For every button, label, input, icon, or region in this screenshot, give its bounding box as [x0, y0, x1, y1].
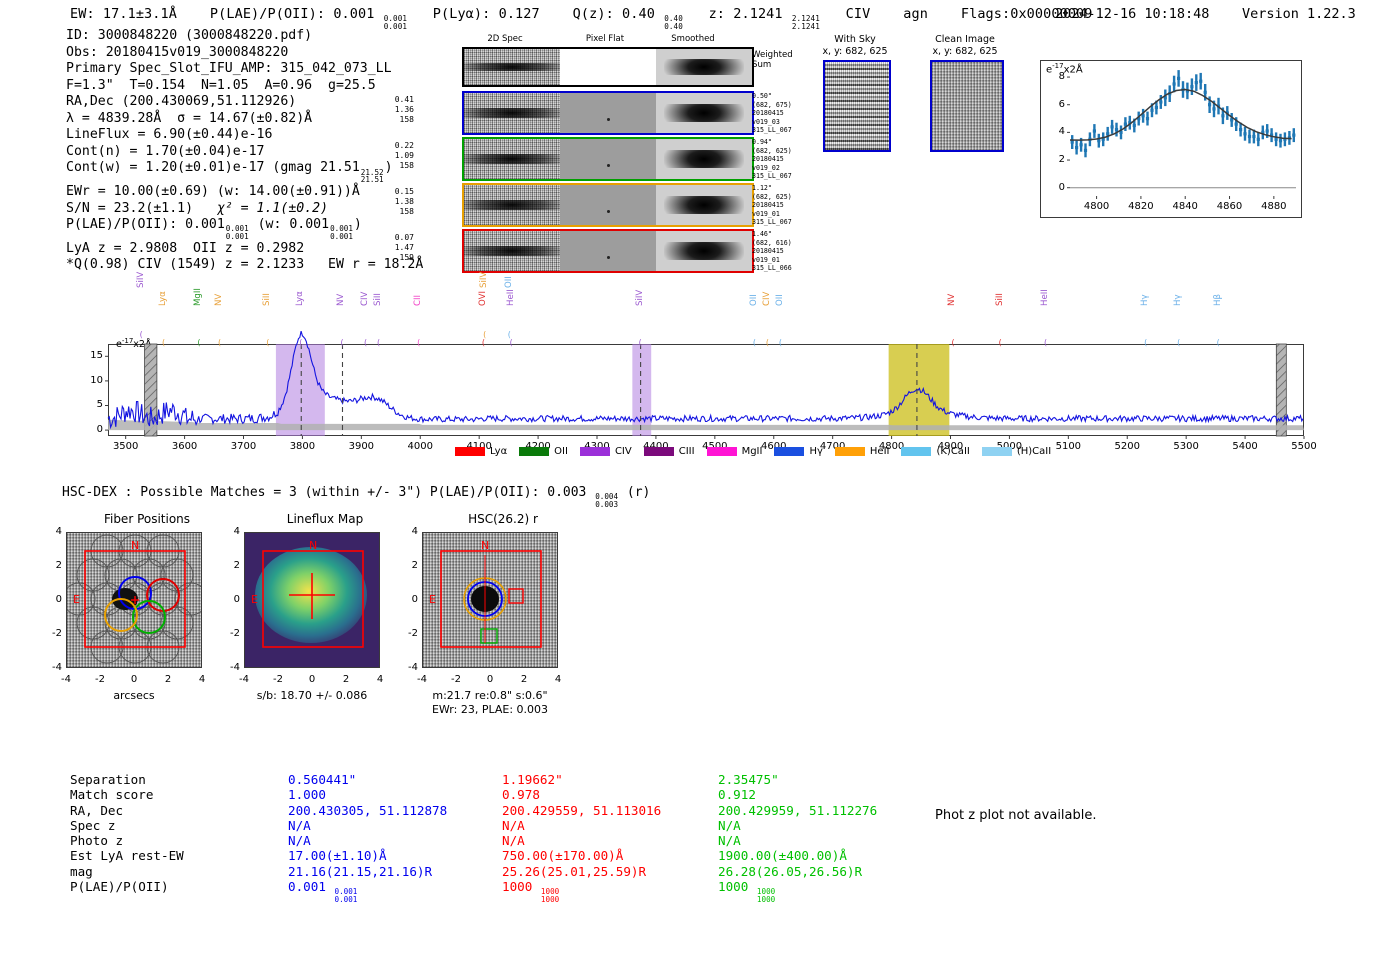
emission-line-label: NV [214, 294, 224, 306]
fiber-meta: 20180415 [752, 155, 812, 164]
matches-cell: 21.16(21.15,21.16)R [288, 864, 447, 879]
emission-line-label: SiIV [479, 272, 489, 288]
info-snr: S/N = 23.2(±1.1) χ² = 1.1(±0.2) [66, 201, 423, 218]
matches-cell: 0.560441" [288, 772, 447, 787]
spectrum-ytick: 15 [76, 350, 103, 361]
clean-image [930, 60, 1004, 152]
emission-line-label: SiII [262, 293, 272, 306]
fiber-meta: v019_02 [752, 164, 812, 173]
line-bracket: ( [417, 338, 420, 347]
emission-line-label: OVI [478, 291, 488, 306]
fiber-meta: 1.12" [752, 184, 812, 193]
matches-cell: 1000 10001000 [502, 879, 661, 904]
fiber-value: 159 [380, 253, 414, 263]
matches-column: 2.35475"0.912200.429959, 51.112276N/AN/A… [718, 772, 877, 904]
lineflux-caption: s/b: 18.70 +/- 0.086 [234, 689, 390, 702]
info-primary-spec: Primary Spec_Slot_IFU_AMP: 315_042_073_L… [66, 61, 423, 78]
matches-row-label: mag [70, 864, 184, 879]
emission-line-label: OII [775, 294, 785, 306]
legend-label: CIII [679, 446, 695, 457]
fiber-meta: (682, 625) [752, 193, 812, 202]
legend-swatch [455, 447, 485, 456]
info-cont-n: Cont(n) = 1.70(±0.04)e-17 [66, 144, 423, 161]
matches-cell: N/A [288, 818, 447, 833]
fiber-smoothed [656, 139, 752, 179]
col-title-smoothed: Smoothed [648, 34, 738, 44]
matches-cell: N/A [718, 818, 877, 833]
hscdex-title-text: HSC-DEX : Possible Matches = 3 (within +… [62, 485, 586, 500]
panel-ytick: 4 [42, 526, 62, 537]
panel-ytick: 0 [42, 594, 62, 605]
emission-line-label: Lyα [295, 291, 305, 306]
panel-ytick: 2 [42, 560, 62, 571]
compass-e-fiber: E [73, 593, 80, 606]
fiber-pixelflat [560, 231, 656, 271]
matches-cell: 1000 10001000 [718, 879, 877, 904]
matches-cell: 200.430305, 51.112878 [288, 803, 447, 818]
source-info-block: ID: 3000848220 (3000848220.pdf) Obs: 201… [66, 28, 423, 274]
panel-xtick: 0 [119, 674, 149, 685]
compass-n-hsc: N [481, 539, 489, 552]
hsc-caption-2: EWr: 23, PLAE: 0.003 [412, 703, 568, 716]
legend-label: Hγ [809, 446, 822, 457]
matches-row-label: Est LyA rest-EW [70, 848, 184, 863]
legend-swatch [580, 447, 610, 456]
cutout-title-with-sky: With Sky x, y: 682, 625 [800, 34, 910, 58]
fiber-meta: 315_LL_067 [752, 126, 812, 135]
line-bracket: ( [1144, 338, 1147, 347]
panel-xtick: 0 [297, 674, 327, 685]
line-bracket: ( [197, 338, 200, 347]
info-plae-w-bounds: 0.0010.001 [330, 225, 353, 240]
header-plya: P(Lyα): 0.127 [433, 6, 540, 22]
weighted-sum-smoothed [656, 49, 752, 85]
matches-table: SeparationMatch scoreRA, DecSpec zPhoto … [70, 772, 184, 894]
matches-cell: 0.912 [718, 787, 877, 802]
hsc-r-axes: N E [422, 532, 558, 668]
photz-note: Phot z plot not available. [935, 808, 1097, 823]
fiber-left-values: 0.151.38158 [380, 187, 414, 217]
panel-ytick: 4 [398, 526, 418, 537]
compass-e-hsc: E [429, 593, 436, 606]
fiber-pixelflat [560, 93, 656, 133]
matches-cell: 25.26(25.01,25.59)R [502, 864, 661, 879]
matches-cell: 1.19662" [502, 772, 661, 787]
legend-swatch [644, 447, 674, 456]
full-spectrum-svg [108, 344, 1304, 436]
fiber-meta: v019_01 [752, 210, 812, 219]
emission-line-label: NV [336, 294, 346, 306]
matches-cell: 200.429559, 51.113016 [502, 803, 661, 818]
panel-xtick: -4 [229, 674, 259, 685]
emission-line-label: Hγ [1173, 294, 1183, 306]
legend-item: Lyα [455, 446, 507, 457]
fiber-meta: (682, 625) [752, 147, 812, 156]
fit-xtick: 4860 [1208, 201, 1252, 212]
matches-cell: 1.000 [288, 787, 447, 802]
panel-ytick: 0 [398, 594, 418, 605]
fit-xtick: 4840 [1163, 201, 1207, 212]
line-bracket: ( [1217, 338, 1220, 347]
header-class: CIV [846, 6, 871, 22]
emission-line-label: CIV [762, 292, 772, 306]
fiber-smoothed [656, 93, 752, 133]
hscdex-title: HSC-DEX : Possible Matches = 3 (within +… [62, 485, 650, 509]
info-id: ID: 3000848220 (3000848220.pdf) [66, 28, 423, 45]
matches-cell: 200.429959, 51.112276 [718, 803, 877, 818]
header-type: agn [903, 6, 928, 22]
legend-item: OII [519, 446, 568, 457]
emission-line-label: Hβ [1213, 294, 1223, 306]
matches-column: 1.19662"0.978200.429559, 51.113016N/AN/A… [502, 772, 661, 904]
chi-squared: χ² = 1.1(±0.2) [217, 201, 328, 216]
fiber-meta: v019_03 [752, 118, 812, 127]
header-timestamp-block: 2024-12-16 10:18:48 Version 1.22.3 [1055, 6, 1356, 22]
matches-cell: 750.00(±170.00)Å [502, 848, 661, 863]
line-bracket: ( [779, 338, 782, 347]
panel-ytick: 2 [220, 560, 240, 571]
matches-cell: N/A [718, 833, 877, 848]
highlight-band [276, 344, 325, 436]
fiber-value: 0.07 [380, 233, 414, 243]
matches-row-label: Separation [70, 772, 184, 787]
legend-swatch [774, 447, 804, 456]
panel-xtick: 0 [475, 674, 505, 685]
fiber-meta: 0.94" [752, 138, 812, 147]
header-plae-label: P(LAE)/P(OII): 0.001 [210, 6, 375, 22]
col-title-pixelflat: Pixel Flat [560, 34, 650, 44]
spectrum-xtick: 5300 [1161, 441, 1211, 452]
fiber-meta: 20180415 [752, 201, 812, 210]
spectrum-ytick: 10 [76, 375, 103, 386]
fit-xtick: 4800 [1075, 201, 1119, 212]
hscdex-title-filter: (r) [627, 485, 650, 500]
matches-row-labels: SeparationMatch scoreRA, DecSpec zPhoto … [70, 772, 184, 894]
emission-line-label: OII [504, 276, 514, 288]
header-z-bounds: 2.1241 2.1241 [792, 15, 820, 30]
z-lower: 2.1241 [792, 23, 820, 31]
spectrum-xtick: 3800 [277, 441, 327, 452]
line-bracket: ( [482, 338, 485, 347]
fiber-value: 158 [380, 207, 414, 217]
fiber-value: 158 [380, 161, 414, 171]
compass-n-fiber: N [131, 539, 139, 552]
fiber-meta: 20180415 [752, 247, 812, 256]
panel-xtick: -4 [407, 674, 437, 685]
fiber-right-meta: 1.12"(682, 625)20180415v019_01315_LL_067 [752, 184, 812, 227]
fit-ytick: 8 [1040, 71, 1065, 82]
clean-image-title: Clean Image [905, 34, 1025, 46]
highlight-band [632, 344, 651, 436]
emission-line-label: NV [947, 294, 957, 306]
fiber-value: 1.38 [380, 197, 414, 207]
fiber-value: 0.15 [380, 187, 414, 197]
fiber-smoothed [656, 231, 752, 271]
col-title-2dspec: 2D Spec [460, 34, 550, 44]
legend-swatch [707, 447, 737, 456]
fiber-left-values: 0.221.09158 [380, 141, 414, 171]
line-bracket: ( [483, 330, 486, 339]
matches-row-label: Photo z [70, 833, 184, 848]
spectrum-xtick: 3900 [336, 441, 386, 452]
fiber-xlabel: arcsecs [66, 689, 202, 702]
fiber-meta: 20180415 [752, 109, 812, 118]
fiber-smoothed [656, 185, 752, 225]
panel-xtick: -4 [51, 674, 81, 685]
panel-title-lineflux-map: Lineflux Map [240, 512, 410, 526]
info-cont-w: Cont(w) = 1.20(±0.01)e-17 (gmag 21.5121.… [66, 160, 423, 184]
info-obs: Obs: 20180415v019_3000848220 [66, 45, 423, 62]
info-ewr: EWr = 10.00(±0.69) (w: 14.00(±0.91))Å [66, 184, 423, 201]
weighted-sum-label: Weighted Sum [752, 50, 793, 70]
fiber-value: 0.22 [380, 141, 414, 151]
line-bracket: ( [753, 338, 756, 347]
info-radec: RA,Dec (200.430069,51.112926) [66, 94, 423, 111]
fiber-overlay [67, 533, 202, 668]
legend-swatch [901, 447, 931, 456]
hscdex-plae-bounds: 0.004 0.003 [595, 493, 618, 508]
spectrum-xtick: 5400 [1220, 441, 1270, 452]
emission-line-label: OII [749, 294, 759, 306]
with-sky-title: With Sky [800, 34, 910, 46]
legend-label: Lyα [490, 446, 507, 457]
info-plae-bounds: 0.0010.001 [226, 225, 249, 240]
masked-band [1276, 344, 1286, 436]
line-bracket: ( [266, 338, 269, 347]
fiber-right-meta: 1.46"(682, 616)20180415v019_01315_LL_066 [752, 230, 812, 273]
weighted-sum-row [462, 47, 754, 87]
line-bracket: ( [639, 338, 642, 347]
emission-line-label: CII [413, 295, 423, 306]
line-bracket: ( [951, 338, 954, 347]
with-sky-image [823, 60, 891, 152]
fiber-2dspec [464, 231, 560, 271]
panel-ytick: -2 [220, 628, 240, 639]
weighted-sum-2dspec [464, 49, 560, 85]
weighted-sum-pixelflat [560, 49, 656, 85]
fiber-value: 1.09 [380, 151, 414, 161]
line-bracket: ( [218, 338, 221, 347]
fiber-meta: 0.50" [752, 92, 812, 101]
fiber-2dspec [464, 139, 560, 179]
legend-item: CIV [580, 446, 632, 457]
panel-ytick: -4 [42, 662, 62, 673]
panel-ytick: -4 [398, 662, 418, 673]
info-wavelength: λ = 4839.28Å σ = 14.67(±0.82)Å [66, 111, 423, 128]
fit-ytick: 4 [1040, 126, 1065, 137]
panel-ytick: -2 [398, 628, 418, 639]
fiber-row [462, 229, 754, 273]
spectrum-xtick: 5200 [1102, 441, 1152, 452]
fit-xtick: 4880 [1252, 201, 1296, 212]
line-bracket: ( [140, 330, 143, 339]
emission-line-label: Hγ [1140, 294, 1150, 306]
qz-lower: 0.40 [664, 23, 683, 31]
info-seeing: F=1.3" T=0.154 N=1.05 A=0.96 g=25.5 [66, 78, 423, 95]
matches-row-label: Match score [70, 787, 184, 802]
fiber-pixelflat [560, 139, 656, 179]
header-summary-line: EW: 17.1±3.1Å P(LAE)/P(OII): 0.001 0.001… [70, 6, 1093, 31]
fit-ytick: 0 [1040, 182, 1065, 193]
info-redshifts: LyA z = 2.9808 OII z = 0.2982 [66, 241, 423, 258]
fiber-positions-axes: N E [66, 532, 202, 668]
panel-ytick: -4 [220, 662, 240, 673]
panel-title-hsc-r: HSC(26.2) r [418, 512, 588, 526]
fiber-right-meta: 0.50"(682, 675)20180415v019_03315_LL_067 [752, 92, 812, 135]
emission-line-label: MgII [193, 288, 203, 306]
hsc-caption-1: m:21.7 re:0.8" s:0.6" [412, 689, 568, 702]
fiber-meta: 315_LL_067 [752, 218, 812, 227]
panel-ytick: 0 [220, 594, 240, 605]
fiber-pixelflat [560, 185, 656, 225]
legend-item: (H)CaII [982, 446, 1051, 457]
fiber-meta: (682, 616) [752, 239, 812, 248]
fiber-value: 0.41 [380, 95, 414, 105]
matches-cell: N/A [288, 833, 447, 848]
matches-plae-bounds: 10001000 [541, 888, 559, 903]
matches-cell: 0.978 [502, 787, 661, 802]
legend-item: (K)CaII [901, 446, 969, 457]
fit-ytick: 2 [1040, 154, 1065, 165]
highlight-band [889, 344, 950, 436]
line-bracket: ( [1177, 338, 1180, 347]
line-bracket: ( [364, 338, 367, 347]
header-z: z: 2.1241 [709, 6, 783, 22]
fiber-2dspec [464, 93, 560, 133]
fiber-left-values: 0.071.47159 [380, 233, 414, 263]
header-version: Version 1.22.3 [1242, 6, 1356, 22]
fiber-meta: 1.46" [752, 230, 812, 239]
emission-line-label: SiII [373, 293, 383, 306]
spectrum-xtick: 3500 [101, 441, 151, 452]
fiber-meta: 315_LL_066 [752, 264, 812, 273]
line-bracket: ( [340, 338, 343, 347]
legend-label: (K)CaII [936, 446, 969, 457]
header-ew: EW: 17.1±3.1Å [70, 6, 177, 22]
line-bracket: ( [377, 338, 380, 347]
fiber-row [462, 183, 754, 227]
panel-xtick: 4 [187, 674, 217, 685]
cutout-title-clean: Clean Image x, y: 682, 625 [905, 34, 1025, 58]
panel-xtick: 4 [543, 674, 573, 685]
header-qz: Q(z): 0.40 [573, 6, 655, 22]
matches-cell: N/A [502, 818, 661, 833]
matches-row-label: RA, Dec [70, 803, 184, 818]
spectrum-ytick: 0 [76, 424, 103, 435]
spectrum-ytick: 5 [76, 399, 103, 410]
panel-ytick: -2 [42, 628, 62, 639]
panel-xtick: 4 [365, 674, 395, 685]
emission-line-label: HeII [506, 289, 516, 306]
fiber-value: 1.47 [380, 243, 414, 253]
matches-row-label: P(LAE)/P(OII) [70, 879, 184, 894]
lineflux-overlay [245, 533, 380, 668]
panel-xtick: 2 [331, 674, 361, 685]
legend-swatch [982, 447, 1012, 456]
legend-swatch [835, 447, 865, 456]
info-classification: *Q(0.98) CIV (1549) z = 2.1233 EW r = 18… [66, 257, 423, 274]
legend-item: HeII [835, 446, 890, 457]
emission-line-label: SiIV [136, 272, 146, 288]
legend-item: Hγ [774, 446, 822, 457]
matches-plae-bounds: 0.0010.001 [335, 888, 358, 903]
matches-cell: 26.28(26.05,26.56)R [718, 864, 877, 879]
compass-n-lineflux: N [309, 539, 317, 552]
fiber-right-meta: 0.94"(682, 625)20180415v019_02315_LL_067 [752, 138, 812, 181]
fit-xtick: 4820 [1119, 201, 1163, 212]
panel-ytick: 4 [220, 526, 240, 537]
line-bracket: ( [999, 338, 1002, 347]
matches-cell: 0.001 0.0010.001 [288, 879, 447, 904]
matches-cell: 2.35475" [718, 772, 877, 787]
clean-image-xy: x, y: 682, 625 [905, 46, 1025, 58]
fiber-value: 1.36 [380, 105, 414, 115]
matches-cell: 17.00(±1.10)Å [288, 848, 447, 863]
matches-cell: 1900.00(±400.00)Å [718, 848, 877, 863]
legend-label: MgII [742, 446, 763, 457]
legend-label: (H)CaII [1017, 446, 1051, 457]
legend-label: OII [554, 446, 568, 457]
lineflux-map-axes: N E [244, 532, 380, 668]
info-plae: P(LAE)/P(OII): 0.0010.0010.001 (w: 0.001… [66, 217, 423, 241]
fit-ytick: 6 [1040, 99, 1065, 110]
spectrum-xtick: 3700 [219, 441, 269, 452]
fiber-meta: v019_01 [752, 256, 812, 265]
header-qz-bounds: 0.40 0.40 [664, 15, 683, 30]
line-bracket: ( [299, 338, 302, 347]
fiber-left-values: 0.411.36158 [380, 95, 414, 125]
spectrum-xtick: 3600 [160, 441, 210, 452]
matches-cell: N/A [502, 833, 661, 848]
emission-line-label: HeII [1040, 289, 1050, 306]
legend-label: HeII [870, 446, 890, 457]
hsc-overlay [423, 533, 558, 668]
compass-e-lineflux: E [251, 593, 258, 606]
line-bracket: ( [766, 338, 769, 347]
panel-xtick: 2 [153, 674, 183, 685]
fiber-2dspec [464, 185, 560, 225]
line-fit-svg [1040, 60, 1302, 218]
matches-column: 0.560441"1.000200.430305, 51.112878N/AN/… [288, 772, 447, 904]
legend-item: CIII [644, 446, 695, 457]
panel-ytick: 2 [398, 560, 418, 571]
matches-row-label: Spec z [70, 818, 184, 833]
panel-xtick: -2 [441, 674, 471, 685]
fiber-meta: (682, 675) [752, 101, 812, 110]
panel-title-fiber-positions: Fiber Positions [62, 512, 232, 526]
line-bracket: ( [510, 338, 513, 347]
emission-line-label: CIV [360, 292, 370, 306]
legend-item: MgII [707, 446, 763, 457]
line-bracket: ( [1044, 338, 1047, 347]
panel-xtick: -2 [263, 674, 293, 685]
legend-swatch [519, 447, 549, 456]
fiber-row [462, 137, 754, 181]
emission-line-label: SiIV [635, 290, 645, 306]
emission-line-label: Lyα [158, 291, 168, 306]
panel-xtick: -2 [85, 674, 115, 685]
fiber-value: 158 [380, 115, 414, 125]
line-bracket: ( [162, 338, 165, 347]
spectrum-xtick: 5500 [1279, 441, 1329, 452]
fiber-row [462, 91, 754, 135]
with-sky-xy: x, y: 682, 625 [800, 46, 910, 58]
spectrum-legend: LyαOIICIVCIIIMgIIHγHeII(K)CaII(H)CaII [455, 446, 1063, 457]
info-lineflux: LineFlux = 6.90(±0.44)e-16 [66, 127, 423, 144]
emission-line-label: SiII [995, 293, 1005, 306]
spectrum-xtick: 4000 [395, 441, 445, 452]
legend-label: CIV [615, 446, 632, 457]
